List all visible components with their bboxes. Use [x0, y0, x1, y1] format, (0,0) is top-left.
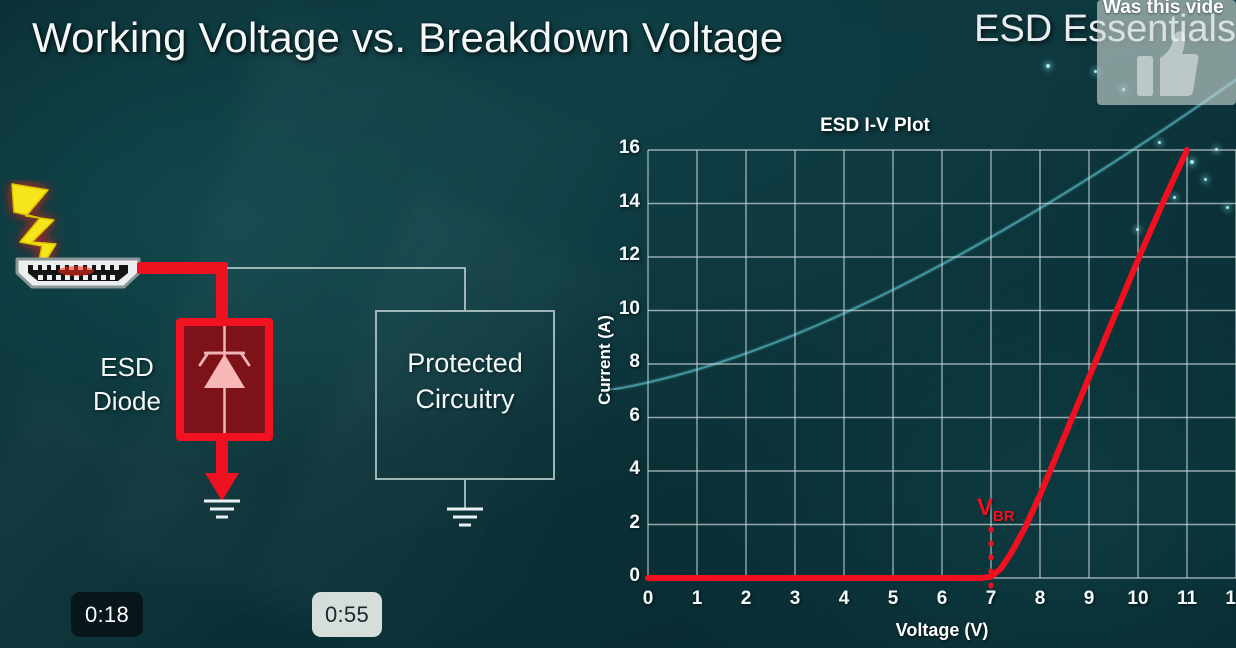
ground-symbol-icon: [443, 506, 487, 530]
surge-wire-horizontal: [137, 262, 227, 274]
vbr-subscript-text: BR: [993, 508, 1015, 525]
page-title: Working Voltage vs. Breakdown Voltage: [32, 14, 783, 62]
background-particle: [1046, 64, 1050, 68]
timestamp-current[interactable]: 0:18: [71, 592, 143, 637]
signal-wire-horizontal: [227, 267, 466, 269]
chart-y-tick-label: 12: [600, 244, 640, 266]
chart-plot-area: [580, 110, 1236, 610]
breakdown-voltage-annotation: VBR: [977, 494, 1015, 525]
hdmi-connector-icon: [14, 253, 142, 293]
chart-y-tick-label: 0: [600, 565, 640, 587]
survey-question-text: Was this vide: [1103, 0, 1224, 19]
chart-x-tick-label: 11: [1167, 588, 1207, 610]
chart-y-tick-label: 16: [600, 137, 640, 159]
esd-diode-label-line1: ESD: [82, 350, 172, 384]
chart-y-tick-label: 14: [600, 191, 640, 213]
chart-x-tick-label: 8: [1020, 588, 1060, 610]
chart-y-tick-label: 10: [600, 298, 640, 320]
chart-x-tick-label: 4: [824, 588, 864, 610]
ground-symbol-icon: [200, 498, 244, 522]
esd-diode-block: [176, 318, 273, 441]
chart-x-axis-label: Voltage (V): [648, 620, 1236, 641]
chart-x-tick-label: 0: [628, 588, 668, 610]
surge-wire-vertical: [216, 262, 228, 324]
chart-x-tick-label: 2: [726, 588, 766, 610]
protected-circuitry-label-line1: Protected: [375, 345, 555, 381]
signal-wire-vertical: [464, 267, 466, 310]
chart-x-tick-label: 10: [1118, 588, 1158, 610]
chart-x-tick-label: 5: [873, 588, 913, 610]
protected-circuitry-label: Protected Circuitry: [375, 345, 555, 417]
chart-x-tick-label: 12: [1216, 588, 1236, 610]
chart-x-tick-label: 6: [922, 588, 962, 610]
thumbs-up-icon[interactable]: [1137, 30, 1199, 98]
tvs-zener-diode-icon: [184, 326, 265, 433]
protected-ground-wire: [464, 480, 466, 508]
esd-diode-label: ESD Diode: [82, 350, 172, 418]
chart-y-tick-label: 8: [600, 351, 640, 373]
chart-y-tick-label: 4: [600, 458, 640, 480]
chart-x-tick-label: 7: [971, 588, 1011, 610]
esd-protection-circuit-diagram: ESD Diode Protected Circuitry: [0, 170, 580, 550]
esd-diode-label-line2: Diode: [82, 384, 172, 418]
timestamp-total[interactable]: 0:55: [312, 592, 382, 637]
vbr-base-text: V: [977, 494, 993, 521]
chart-x-tick-label: 1: [677, 588, 717, 610]
chart-x-tick-label: 9: [1069, 588, 1109, 610]
protected-circuitry-label-line2: Circuitry: [375, 381, 555, 417]
video-frame: Working Voltage vs. Breakdown Voltage ES…: [0, 0, 1236, 648]
chart-x-tick-label: 3: [775, 588, 815, 610]
chart-y-tick-label: 2: [600, 512, 640, 534]
esd-iv-plot: ESD I-V Plot Current (A) Voltage (V) VBR…: [580, 110, 1236, 648]
chart-y-tick-label: 6: [600, 405, 640, 427]
